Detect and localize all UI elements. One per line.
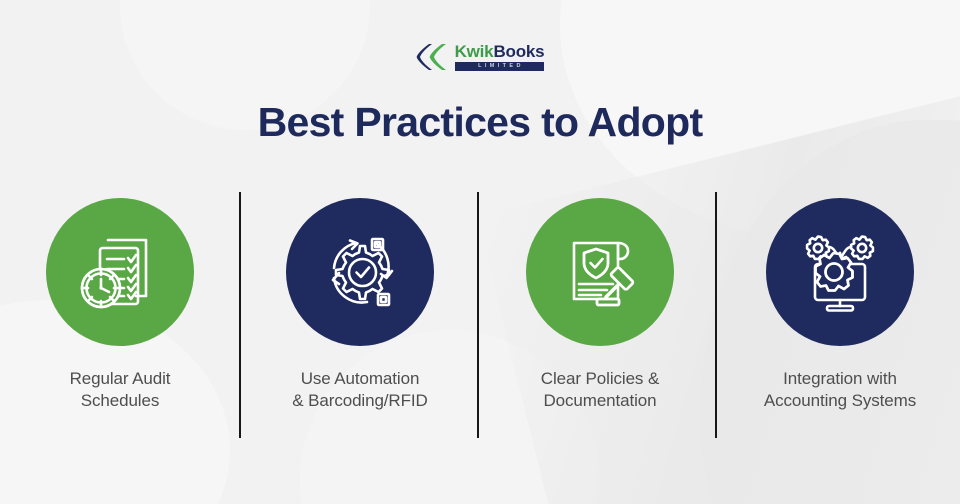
monitor-gears-integration-icon — [794, 226, 886, 318]
icon-circle-3 — [526, 198, 674, 346]
column-divider — [477, 192, 479, 438]
practice-item-clear-policies-documentation[interactable]: Clear Policies & Documentation — [480, 190, 720, 440]
icon-circle-2 — [286, 198, 434, 346]
practice-label: Clear Policies & Documentation — [541, 368, 659, 413]
practice-item-regular-audit-schedules[interactable]: Regular Audit Schedules — [0, 190, 240, 440]
practice-item-integration-with-accounting-systems[interactable]: Integration with Accounting Systems — [720, 190, 960, 440]
practice-label: Use Automation & Barcoding/RFID — [292, 368, 427, 413]
brand-name-part-2: Books — [493, 42, 544, 61]
automation-gear-cycle-icon — [314, 226, 406, 318]
icon-circle-1 — [46, 198, 194, 346]
best-practices-list: Regular Audit Schedules — [0, 190, 960, 440]
brand-suffix: LIMITED — [455, 62, 545, 71]
brand-logo[interactable]: KwikBooks LIMITED — [0, 42, 960, 72]
double-chevron-left-icon — [416, 42, 450, 72]
icon-circle-4 — [766, 198, 914, 346]
column-divider — [239, 192, 241, 438]
practice-item-use-automation-barcoding-rfid[interactable]: Use Automation & Barcoding/RFID — [240, 190, 480, 440]
audit-checklist-clock-icon — [74, 226, 166, 318]
practice-label: Regular Audit Schedules — [70, 368, 171, 413]
infographic-canvas: KwikBooks LIMITED Best Practices to Adop… — [0, 0, 960, 504]
page-title: Best Practices to Adopt — [0, 99, 960, 146]
policy-document-gavel-icon — [554, 226, 646, 318]
column-divider — [715, 192, 717, 438]
brand-name-part-1: Kwik — [455, 42, 494, 61]
practice-label: Integration with Accounting Systems — [764, 368, 916, 413]
